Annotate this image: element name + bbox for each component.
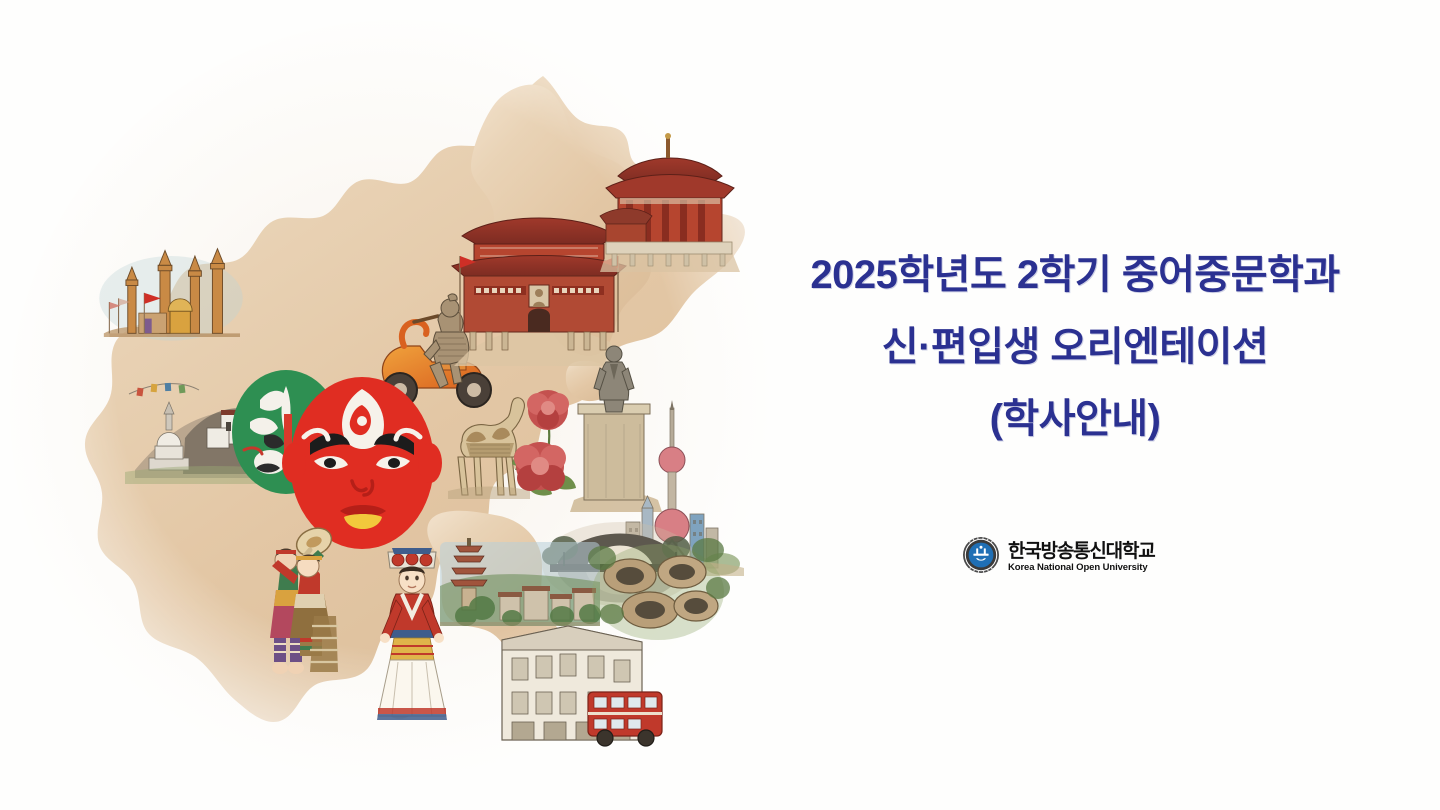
logo-name-korean: 한국방송통신대학교 — [1008, 542, 1155, 561]
title-block: 2025학년도 2학기 중어중문학과 신·편입생 오리엔테이션 (학사안내) — [745, 255, 1405, 439]
logo-name-english: Korea National Open University — [1008, 563, 1155, 573]
title-line-2: 신·편입생 오리엔테이션 — [745, 327, 1405, 367]
presentation-slide: 2025학년도 2학기 중어중문학과 신·편입생 오리엔테이션 (학사안내) — [0, 0, 1440, 810]
west-lake-pagoda-town-icon — [440, 538, 601, 626]
title-line-3: (학사안내) — [745, 399, 1405, 439]
title-line-1: 2025학년도 2학기 중어중문학과 — [745, 255, 1405, 295]
knou-emblem-icon — [962, 536, 1000, 579]
fujian-tulou-icon — [588, 538, 730, 640]
mosque-minarets-icon — [99, 249, 243, 341]
logo-wordmark: 한국방송통신대학교 Korea National Open University — [1008, 542, 1155, 573]
colonial-building-bus-icon — [502, 626, 662, 746]
university-logo: 한국방송통신대학교 Korea National Open University — [962, 536, 1155, 579]
china-map-illustration — [30, 40, 760, 770]
